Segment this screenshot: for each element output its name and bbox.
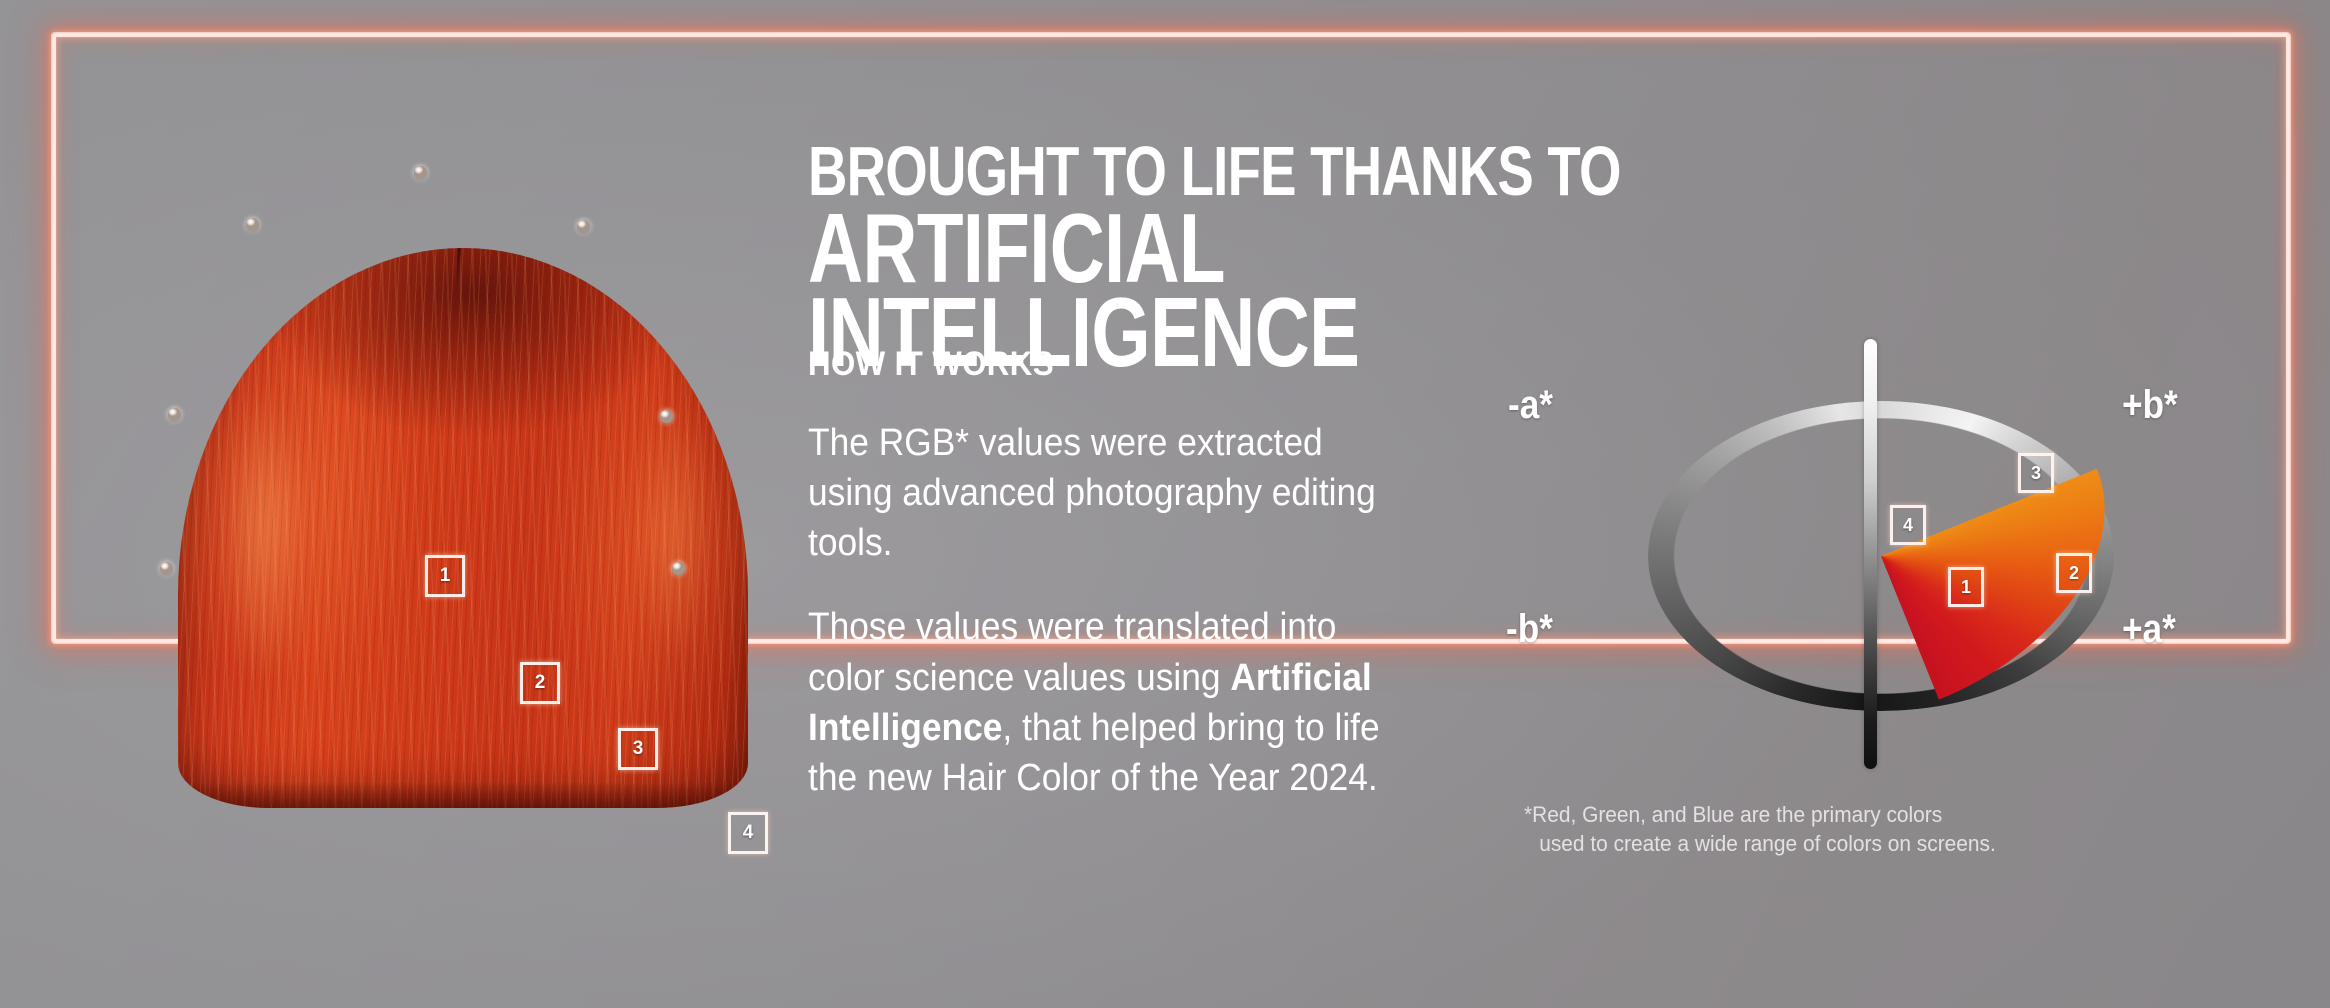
pearl-pin-icon — [414, 166, 427, 179]
hair-sample-marker-4: 4 — [728, 812, 768, 854]
lab-point-3: 1 — [1948, 567, 1984, 607]
pearl-pin-icon — [246, 218, 259, 231]
lab-point-2: 3 — [2018, 453, 2054, 493]
pearl-pin-icon — [168, 408, 181, 421]
footnote: *Red, Green, and Blue are the primary co… — [1524, 800, 2189, 858]
pearl-pin-icon — [672, 562, 685, 575]
lab-point-4: 2 — [2056, 553, 2092, 593]
cielab-color-space-diagram: -a* +b* -b* +a* 4 3 1 2 — [1500, 345, 2240, 765]
body-copy: The RGB* values were extracted using adv… — [808, 418, 1403, 803]
footnote-line-2: used to create a wide range of colors on… — [1524, 829, 2189, 858]
pearl-pin-icon — [577, 220, 590, 233]
model-photo: 1 2 3 4 — [120, 150, 820, 790]
lab-label-neg-a: -a* — [1508, 383, 1553, 428]
infographic-canvas: 1 2 3 4 BROUGHT TO LIFE THANKS TO ARTIFI… — [0, 0, 2330, 1008]
red-bob-hair — [178, 248, 748, 808]
lab-point-1: 4 — [1890, 505, 1926, 545]
pearl-pin-icon — [660, 410, 673, 423]
body-paragraph-2: Those values were translated into color … — [808, 602, 1403, 803]
lab-label-pos-b: +b* — [2122, 383, 2178, 428]
footnote-line-1: *Red, Green, and Blue are the primary co… — [1524, 802, 1942, 827]
lab-axis-lightness — [1864, 339, 1877, 769]
hair-sample-marker-2: 2 — [520, 662, 560, 704]
page-title: BROUGHT TO LIFE THANKS TO ARTIFICIAL INT… — [808, 141, 1635, 374]
hair-hemline — [178, 782, 748, 808]
pearl-pin-icon — [160, 562, 173, 575]
hair-sheen-left — [201, 326, 326, 740]
hair-sample-marker-3: 3 — [618, 728, 658, 770]
section-kicker: HOW IT WORKS — [808, 345, 1054, 384]
hair-sheen-right — [617, 349, 731, 719]
lab-label-neg-b: -b* — [1506, 607, 1553, 652]
body-paragraph-1: The RGB* values were extracted using adv… — [808, 418, 1403, 568]
lab-label-pos-a: +a* — [2122, 607, 2176, 652]
hair-sample-marker-1: 1 — [425, 555, 465, 597]
